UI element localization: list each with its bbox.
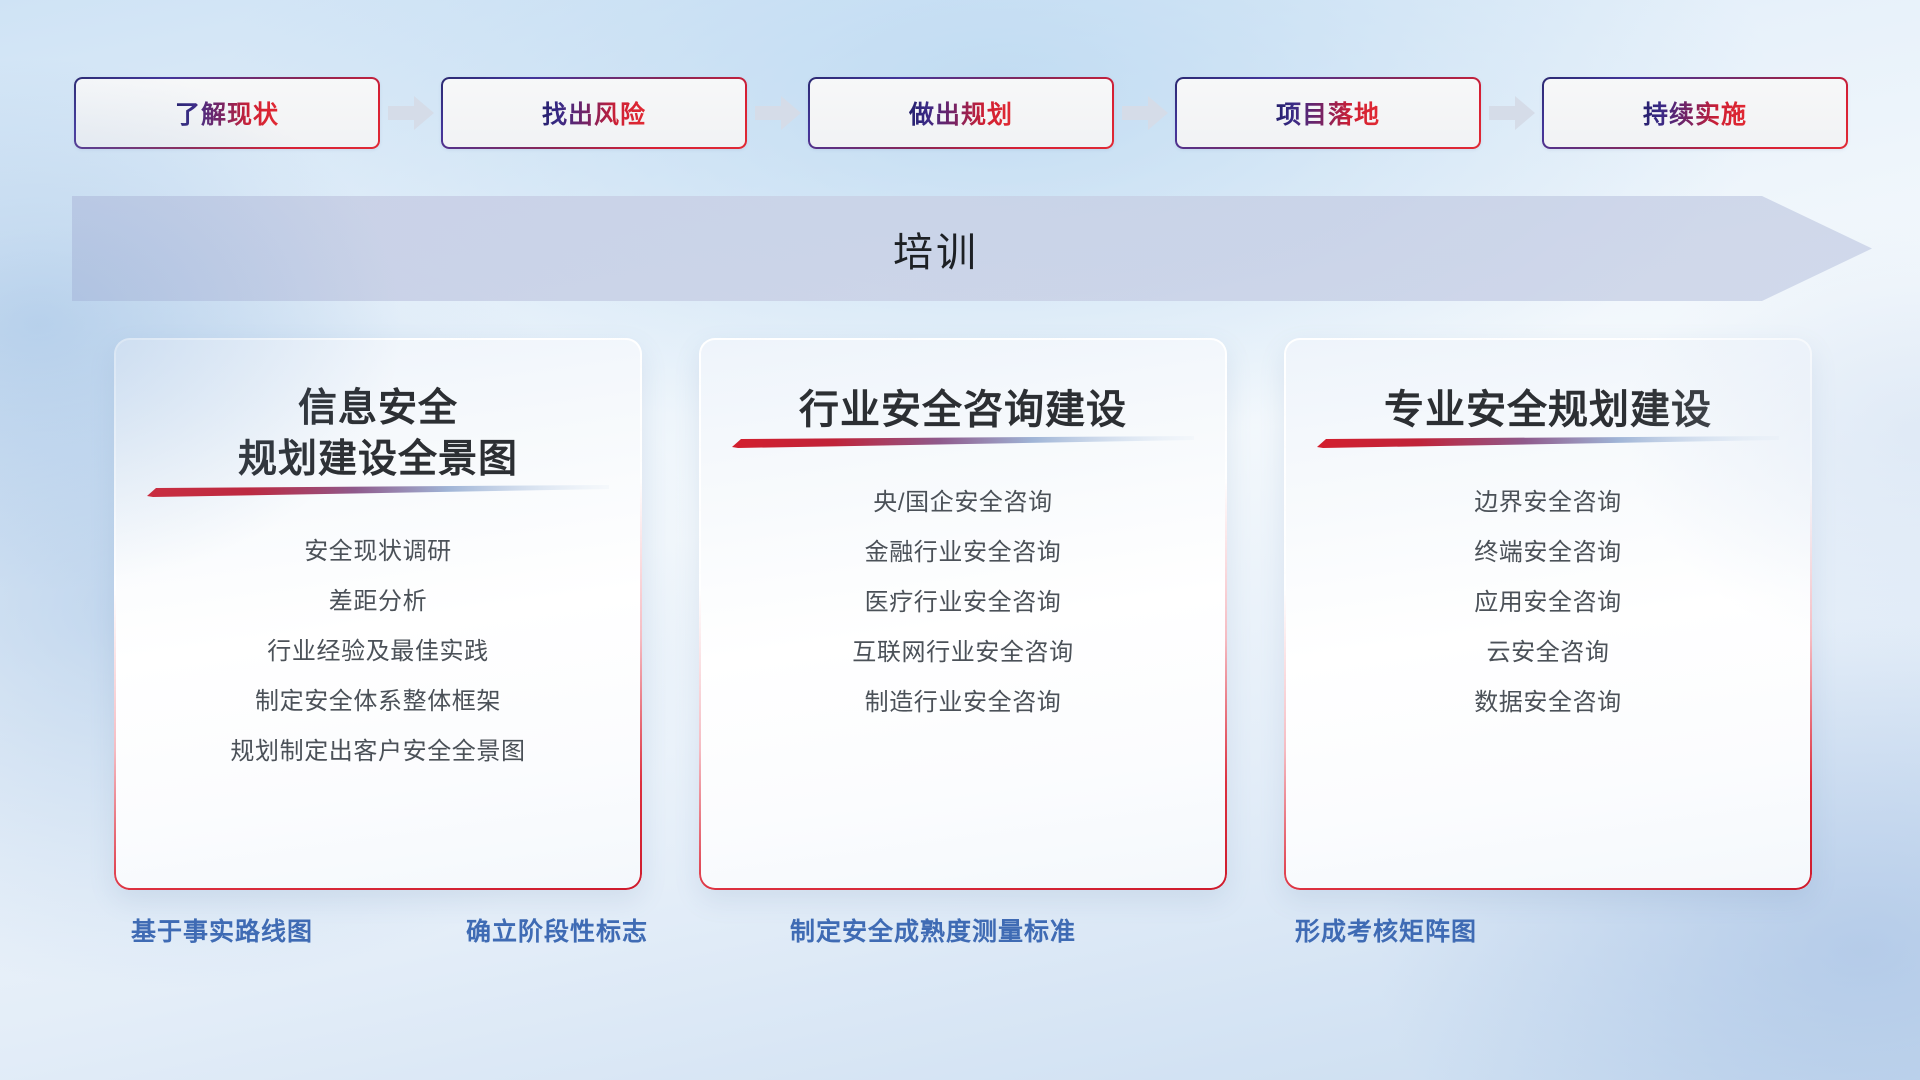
list-item: 金融行业安全咨询 xyxy=(725,528,1201,578)
arrow-right-icon xyxy=(1481,93,1542,133)
list-item: 安全现状调研 xyxy=(140,527,616,577)
card-title: 信息安全 规划建设全景图 xyxy=(140,384,616,485)
list-item: 差距分析 xyxy=(140,577,616,627)
footnote-label: 确立阶段性标志 xyxy=(466,912,648,948)
list-item: 数据安全咨询 xyxy=(1310,678,1786,728)
list-item: 行业经验及最佳实践 xyxy=(140,627,616,677)
card-title: 专业安全规划建设 xyxy=(1310,384,1786,436)
card-professional-security-planning[interactable]: 专业安全规划建设 xyxy=(1284,338,1812,890)
capability-cards: 信息安全 规划建设全景图 xyxy=(114,338,1814,890)
step-chip-4[interactable]: 项目落地 xyxy=(1175,77,1481,149)
step-chip-2[interactable]: 找出风险 xyxy=(441,77,747,149)
list-item: 制造行业安全咨询 xyxy=(725,678,1201,728)
card-item-list: 央/国企安全咨询 金融行业安全咨询 医疗行业安全咨询 互联网行业安全咨询 制造行… xyxy=(725,478,1201,728)
step-label: 项目落地 xyxy=(1276,95,1380,131)
footnote-label: 制定安全成熟度测量标准 xyxy=(790,912,1076,948)
step-chip-3[interactable]: 做出规划 xyxy=(808,77,1114,149)
list-item: 央/国企安全咨询 xyxy=(725,478,1201,528)
card-item-list: 安全现状调研 差距分析 行业经验及最佳实践 制定安全体系整体框架 规划制定出客户… xyxy=(140,527,616,777)
training-banner: 培训 xyxy=(72,196,1872,301)
step-label: 了解现状 xyxy=(175,95,279,131)
step-chip-5[interactable]: 持续实施 xyxy=(1542,77,1848,149)
card-divider xyxy=(1317,436,1779,448)
card-industry-security-consulting[interactable]: 行业安全咨询建设 xyxy=(699,338,1227,890)
slide-canvas: 了解现状 找出风险 做出规划 项目落地 xyxy=(0,0,1920,1080)
footnote-label: 形成考核矩阵图 xyxy=(1295,912,1477,948)
arrow-right-icon xyxy=(380,93,441,133)
step-label: 做出规划 xyxy=(909,95,1013,131)
process-steps-row: 了解现状 找出风险 做出规划 项目落地 xyxy=(74,76,1846,150)
footnote-row: 基于事实路线图 确立阶段性标志 制定安全成熟度测量标准 形成考核矩阵图 xyxy=(0,912,1920,956)
list-item: 云安全咨询 xyxy=(1310,628,1786,678)
list-item: 应用安全咨询 xyxy=(1310,578,1786,628)
banner-title: 培训 xyxy=(72,196,1800,301)
step-label: 持续实施 xyxy=(1643,95,1747,131)
step-label: 找出风险 xyxy=(542,95,646,131)
card-title: 行业安全咨询建设 xyxy=(725,384,1201,436)
arrow-right-icon xyxy=(747,93,808,133)
list-item: 制定安全体系整体框架 xyxy=(140,677,616,727)
list-item: 互联网行业安全咨询 xyxy=(725,628,1201,678)
list-item: 终端安全咨询 xyxy=(1310,528,1786,578)
list-item: 医疗行业安全咨询 xyxy=(725,578,1201,628)
card-information-security-blueprint[interactable]: 信息安全 规划建设全景图 xyxy=(114,338,642,890)
footnote-label: 基于事实路线图 xyxy=(131,912,313,948)
card-item-list: 边界安全咨询 终端安全咨询 应用安全咨询 云安全咨询 数据安全咨询 xyxy=(1310,478,1786,728)
card-divider xyxy=(732,436,1194,448)
list-item: 边界安全咨询 xyxy=(1310,478,1786,528)
step-chip-1[interactable]: 了解现状 xyxy=(74,77,380,149)
list-item: 规划制定出客户安全全景图 xyxy=(140,727,616,777)
arrow-right-icon xyxy=(1114,93,1175,133)
card-divider xyxy=(147,485,609,497)
